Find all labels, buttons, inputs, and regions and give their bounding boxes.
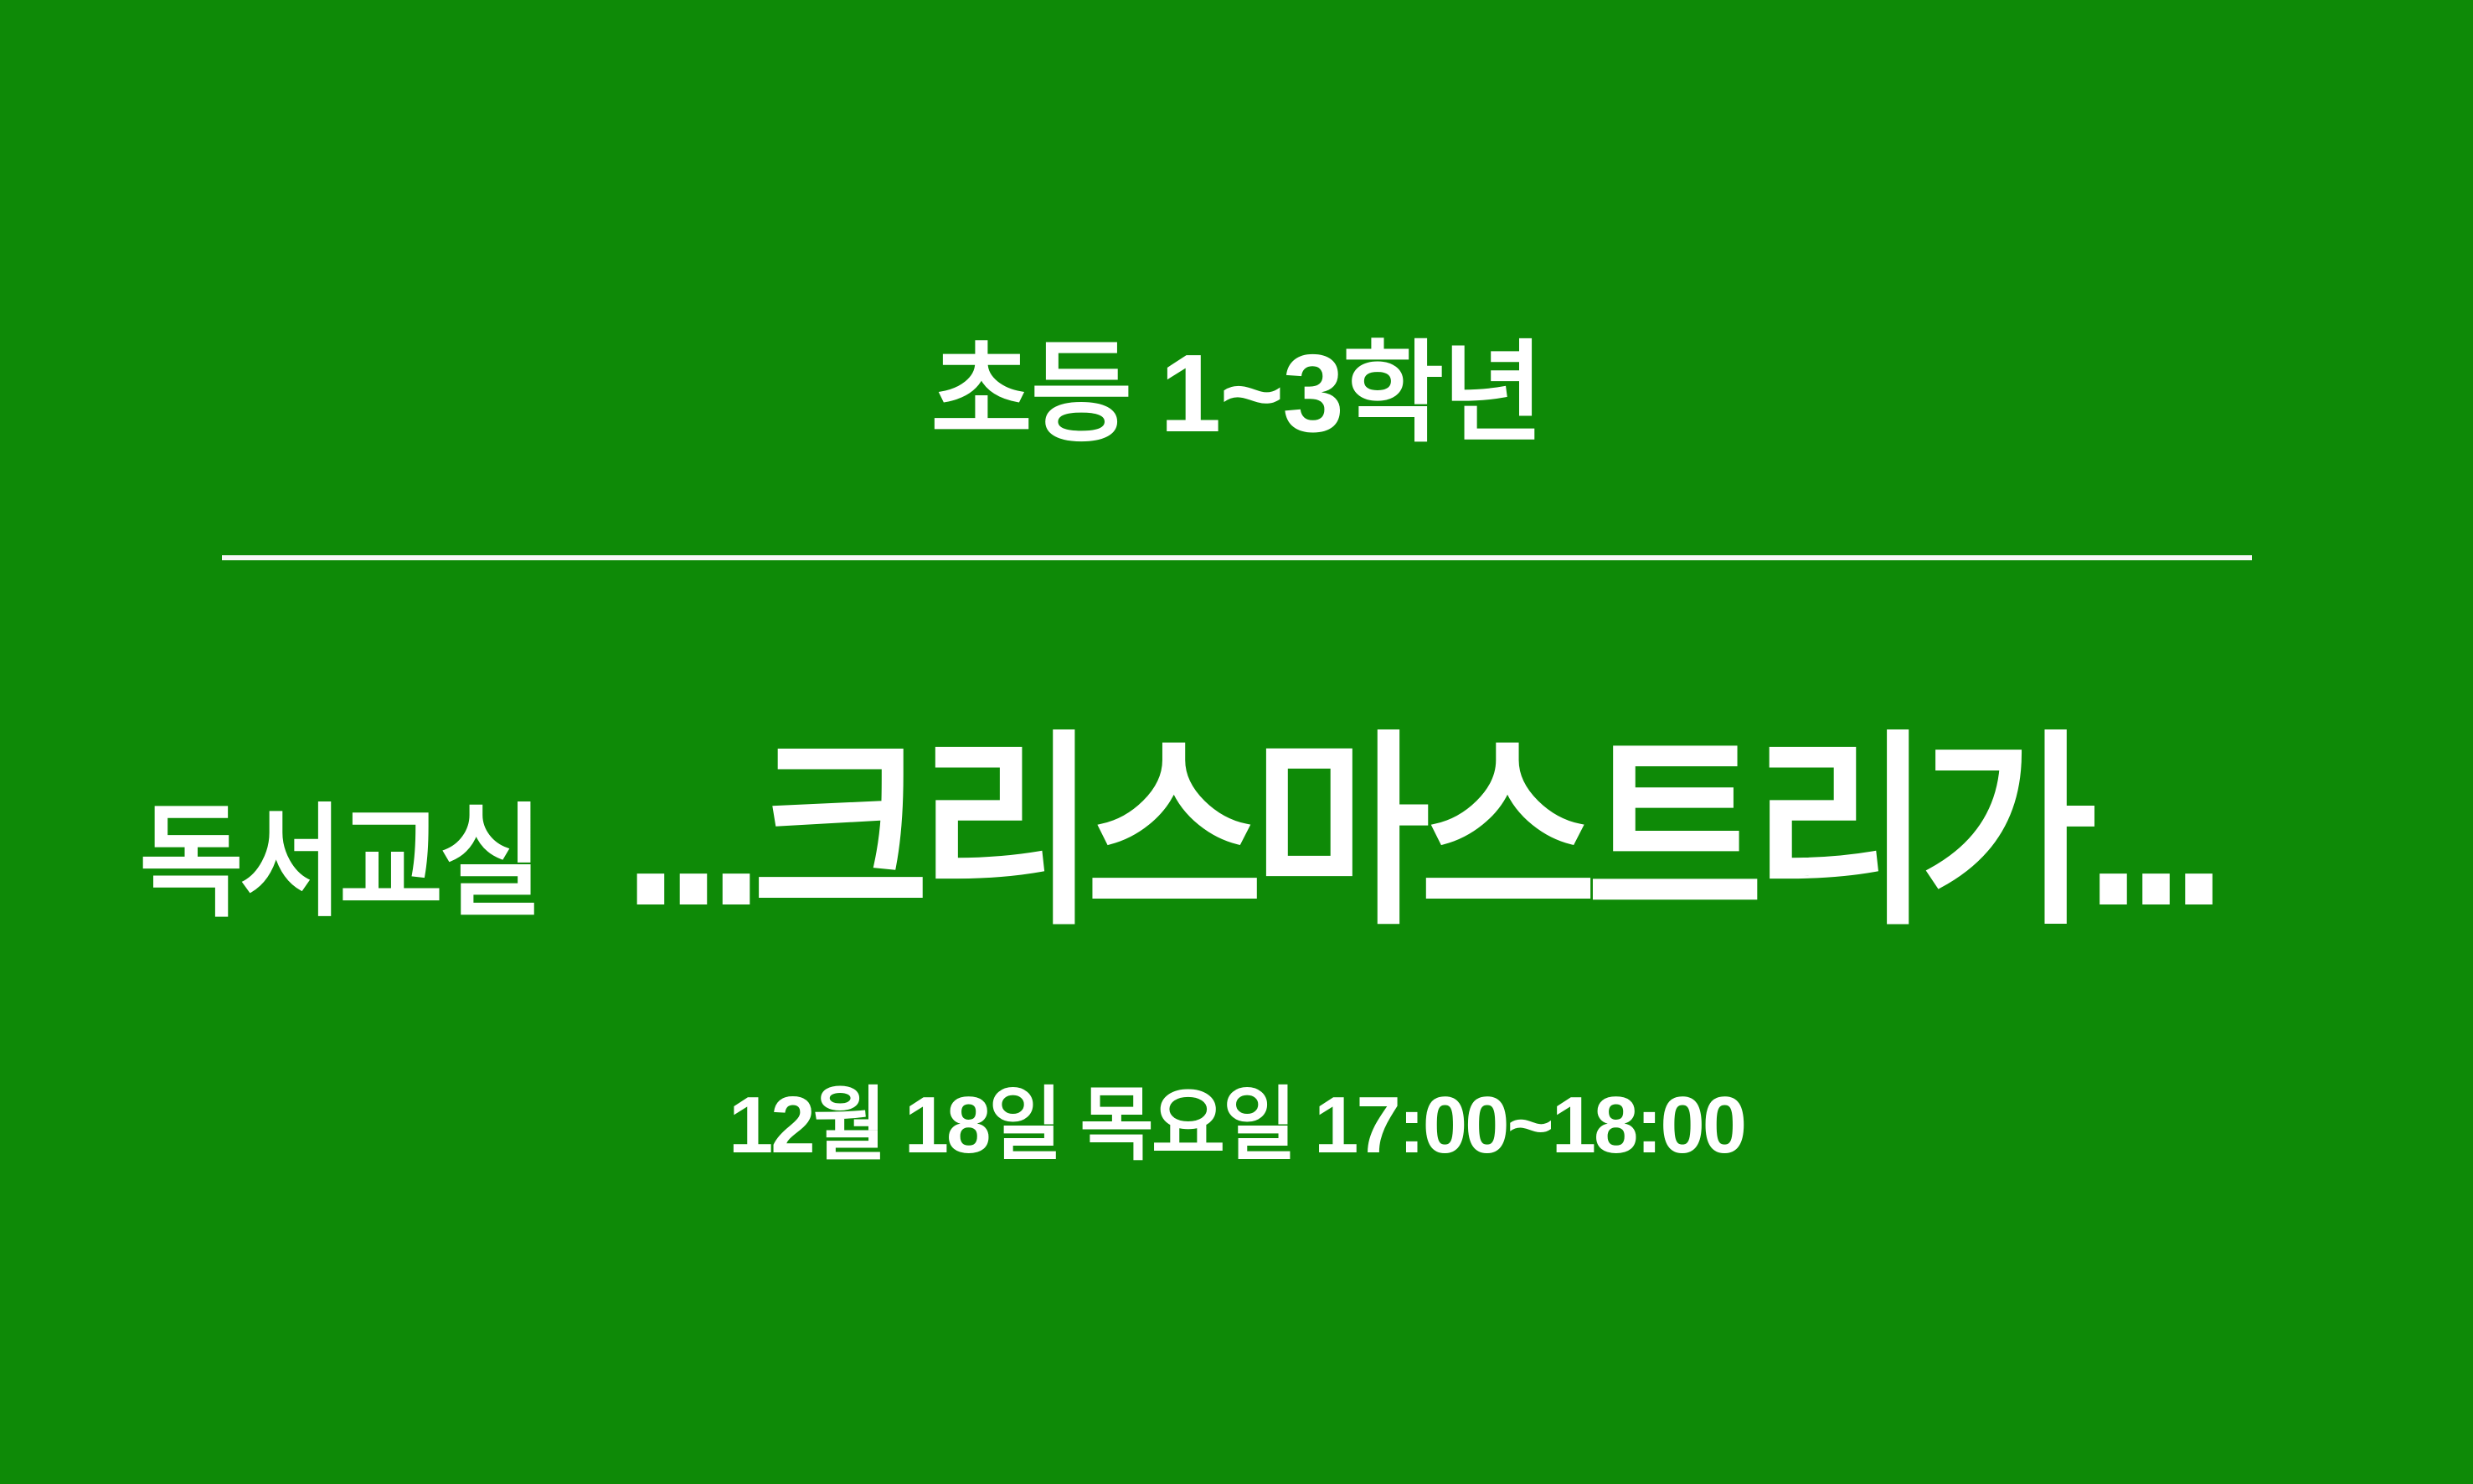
program-title-label: ...크리스마스트리가... — [624, 729, 2215, 936]
main-title-row: 독서교실 ...크리스마스트리가... — [0, 729, 2473, 936]
grade-row: 초등 1~3학년 — [0, 338, 2473, 449]
horizontal-divider — [222, 555, 2252, 560]
event-banner: 초등 1~3학년 독서교실 ...크리스마스트리가... 12월 18일 목요일… — [0, 0, 2473, 1484]
program-category-label: 독서교실 — [139, 801, 538, 924]
grade-label: 초등 1~3학년 — [930, 338, 1542, 449]
divider-line — [222, 555, 2252, 560]
schedule-row: 12월 18일 목요일 17:00~18:00 — [0, 1085, 2473, 1166]
schedule-label: 12월 18일 목요일 17:00~18:00 — [729, 1085, 1744, 1166]
